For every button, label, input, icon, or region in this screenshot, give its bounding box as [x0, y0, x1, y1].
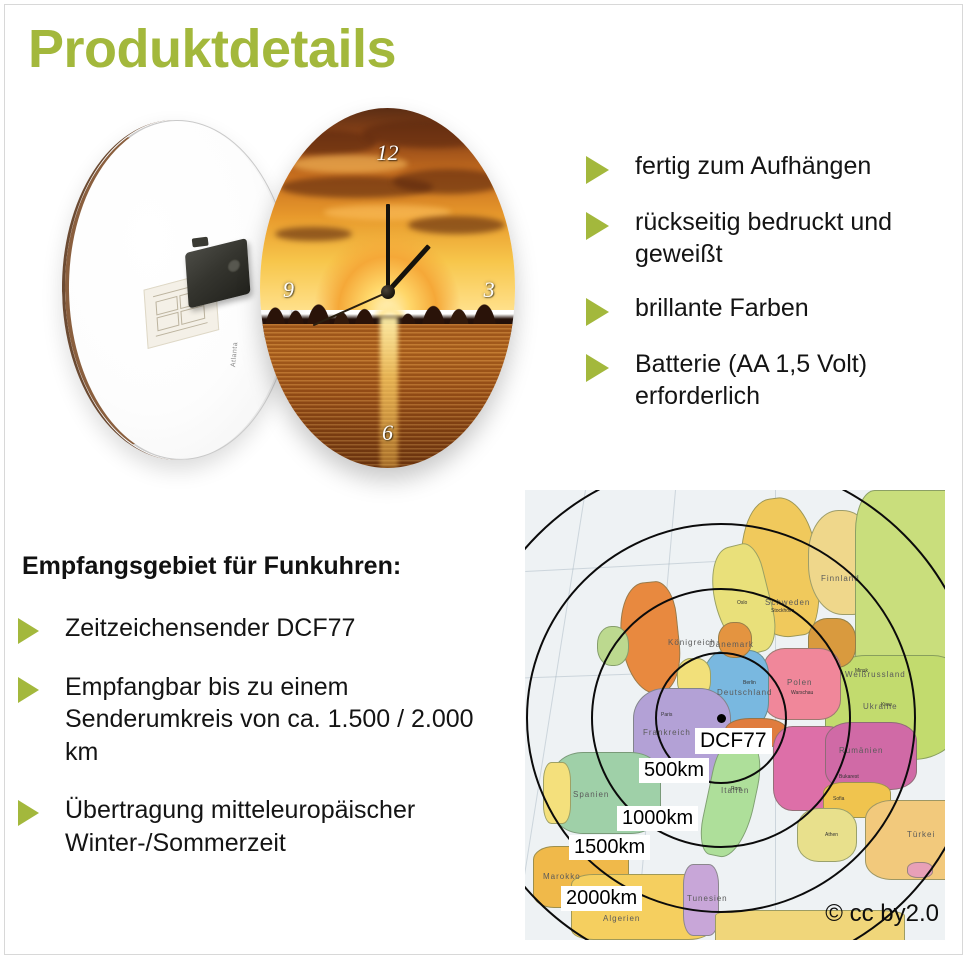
list-item: Batterie (AA 1,5 Volt) erforderlich [586, 348, 956, 412]
bullet-arrow-icon [18, 677, 39, 703]
cloud [408, 216, 505, 234]
reception-label: Übertragung mitteleuropäischer Winter-/S… [65, 794, 508, 859]
feature-label: fertig zum Aufhängen [635, 150, 871, 182]
reception-list: Zeitzeichensender DCF77 Empfangbar bis z… [18, 612, 508, 885]
bullet-arrow-icon [586, 212, 609, 240]
bullet-arrow-icon [586, 298, 609, 326]
cloud [275, 227, 352, 241]
feature-label: Batterie (AA 1,5 Volt) erforderlich [635, 348, 956, 412]
clock-minute-hand [386, 204, 390, 292]
list-item: fertig zum Aufhängen [586, 150, 956, 184]
dcf77-coverage-map: Finnland Schweden Königreich Dänemark De… [525, 490, 945, 940]
bullet-arrow-icon [586, 156, 609, 184]
dcf77-transmitter-dot [717, 714, 726, 723]
clock-numeral-3: 3 [484, 277, 495, 303]
map-label-dcf77: DCF77 [695, 728, 772, 754]
bullet-arrow-icon [586, 354, 609, 382]
map-credit: © cc by2.0 [825, 900, 939, 928]
map-label-500km: 500km [639, 758, 709, 783]
clock-back-disc: Atlanta [59, 118, 293, 462]
clock-numeral-12: 12 [377, 140, 399, 166]
reception-label: Zeitzeichensender DCF77 [65, 612, 355, 645]
product-details-page: Produktdetails Atlanta [0, 0, 968, 960]
reception-label: Empfangbar bis zu einem Senderumkreis vo… [65, 671, 508, 769]
clock-product-image: Atlanta 12 3 6 9 [42, 108, 542, 478]
feature-list: fertig zum Aufhängen rückseitig bedruckt… [586, 150, 956, 434]
list-item: Übertragung mitteleuropäischer Winter-/S… [18, 794, 508, 859]
clock-numeral-9: 9 [283, 277, 294, 303]
feature-label: brillante Farben [635, 292, 809, 324]
clock-numeral-6: 6 [382, 420, 393, 446]
reception-heading: Empfangsgebiet für Funkuhren: [22, 552, 401, 581]
feature-label: rückseitig bedruckt und geweißt [635, 206, 956, 270]
clock-hand-cap [381, 285, 395, 299]
clock-face-disc: 12 3 6 9 [260, 108, 515, 468]
coverage-ring-2000km [525, 490, 945, 940]
list-item: Zeitzeichensender DCF77 [18, 612, 508, 645]
map-label-1500km: 1500km [569, 835, 650, 860]
page-title: Produktdetails [28, 22, 396, 76]
list-item: brillante Farben [586, 292, 956, 326]
map-label-2000km: 2000km [561, 886, 642, 911]
movement-shaft [192, 237, 209, 248]
list-item: Empfangbar bis zu einem Senderumkreis vo… [18, 671, 508, 769]
bullet-arrow-icon [18, 800, 39, 826]
map-label-1000km: 1000km [617, 806, 698, 831]
list-item: rückseitig bedruckt und geweißt [586, 206, 956, 270]
bullet-arrow-icon [18, 618, 39, 644]
